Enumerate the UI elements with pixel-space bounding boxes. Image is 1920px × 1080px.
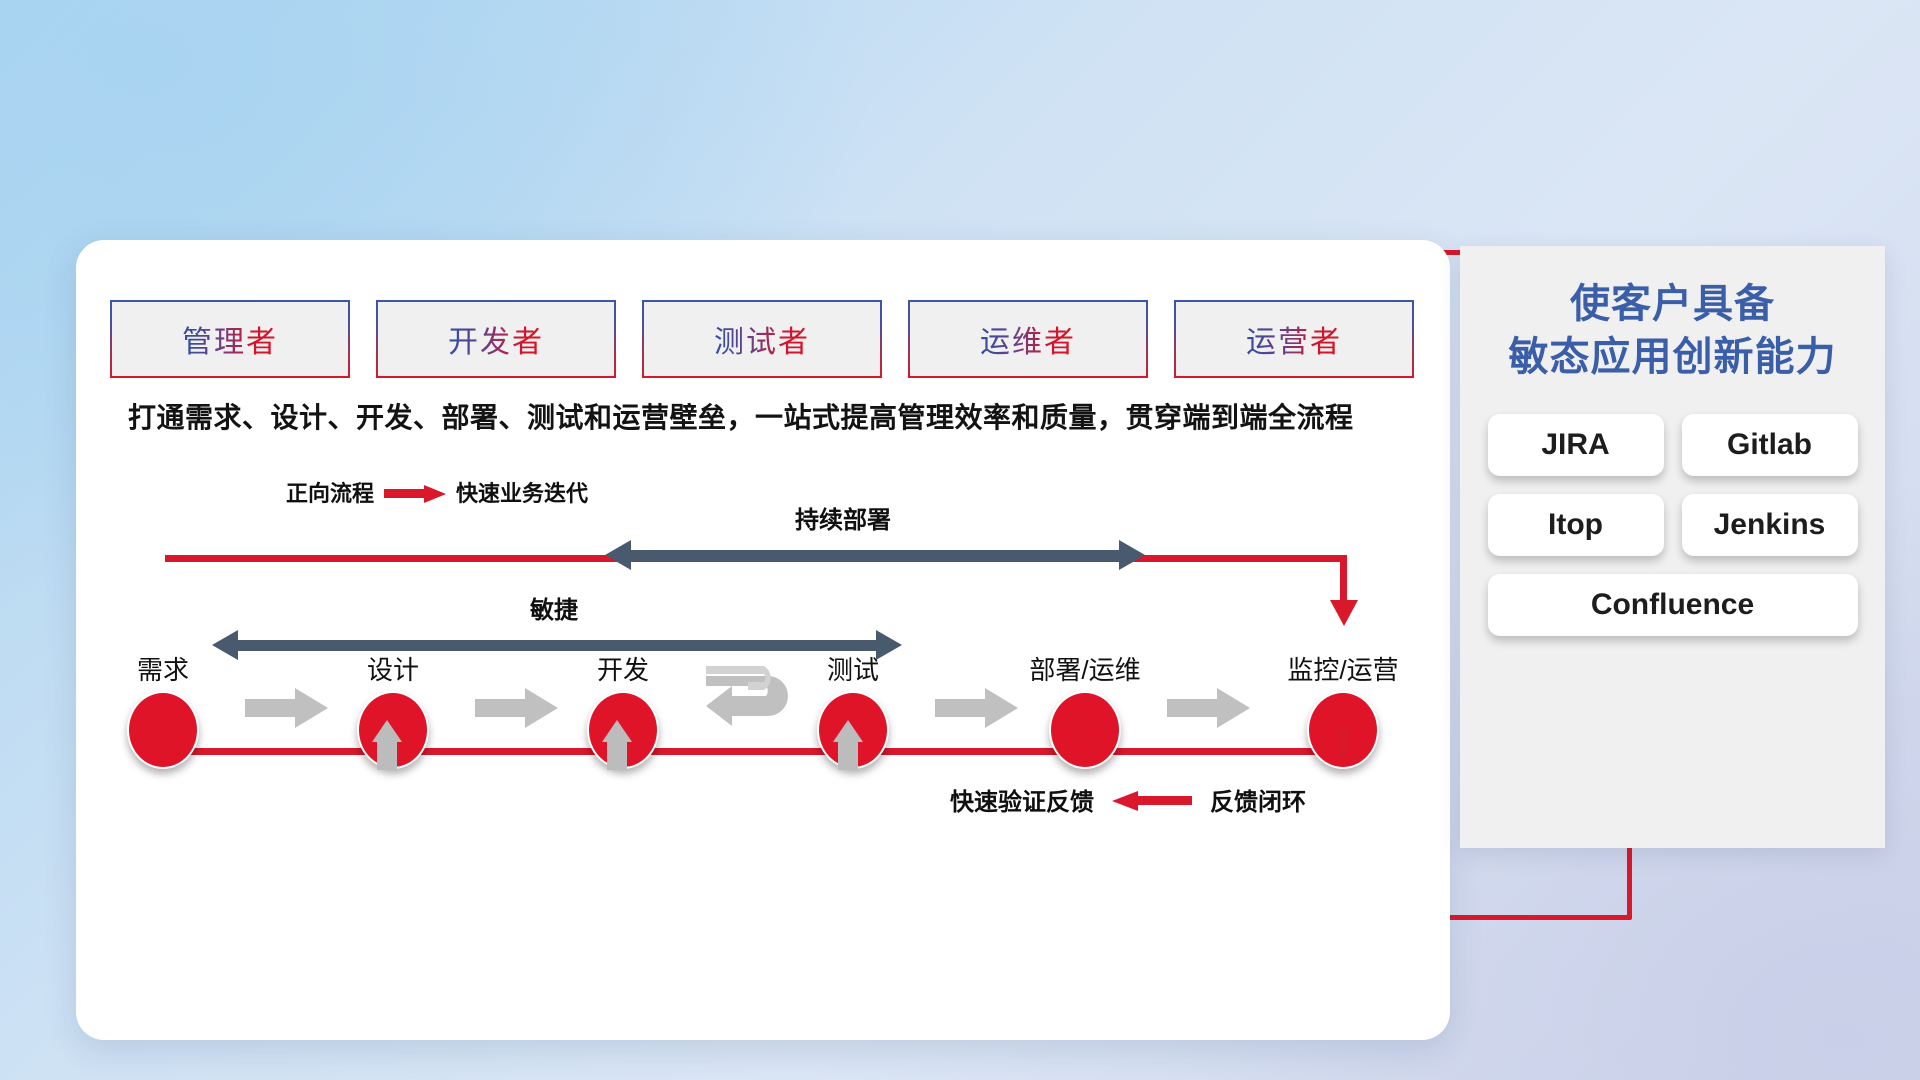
span-arrow-continuous-deploy [605,538,1145,572]
role-box-tester[interactable]: 测试者 [642,300,882,378]
role-label: 运维者 [980,317,1076,361]
red-arrow-right-icon [384,485,446,499]
role-box-row: 管理者 开发者 测试者 运维者 运营者 [110,300,1414,378]
forward-flow-left-label: 正向流程 [286,476,374,508]
role-box-manager[interactable]: 管理者 [110,300,350,378]
tool-button-confluence[interactable]: Confluence [1488,574,1858,636]
feedback-right-label: 反馈闭环 [1210,782,1306,817]
feedback-stem-test [838,740,858,770]
forward-flow-right-label: 快速业务迭代 [456,476,588,508]
tool-button-itop[interactable]: Itop [1488,494,1664,556]
capability-panel: 使客户具备 敏态应用创新能力 JIRA Gitlab Itop Jenkins … [1460,246,1885,848]
description-text: 打通需求、设计、开发、部署、测试和运营壁垒，一站式提高管理效率和质量，贯穿端到端… [128,396,1354,436]
red-arrow-left-icon [1112,792,1192,808]
span-label-agile: 敏捷 [530,590,578,625]
pipeline-stage-deploy-ops[interactable]: 部署/运维 [1000,650,1170,769]
stage-label: 开发 [538,650,708,687]
monitor-red-stem [1340,730,1347,755]
panel-title-line1: 使客户具备 [1460,278,1885,331]
stage-label: 部署/运维 [1000,650,1170,687]
role-label: 管理者 [182,317,278,361]
tool-button-gitlab[interactable]: Gitlab [1682,414,1858,476]
feedback-arrowhead-develop [602,720,632,742]
feedback-legend: 快速验证反馈 反馈闭环 [950,782,1306,817]
stage-label: 测试 [768,650,938,687]
feedback-arrowhead-design [372,720,402,742]
tool-button-jenkins[interactable]: Jenkins [1682,494,1858,556]
role-box-operations[interactable]: 运营者 [1174,300,1414,378]
panel-title-line2: 敏态应用创新能力 [1460,331,1885,384]
role-label: 开发者 [448,317,544,361]
grey-arrow-icon-4 [1165,685,1253,731]
feedback-stem-develop [607,740,627,770]
span-label-continuous-deploy: 持续部署 [795,500,891,535]
stage-label: 设计 [308,650,478,687]
slide-canvas: 管理者 开发者 测试者 运维者 运营者 打通需求、设计、开发、部署、测试和运营壁… [0,0,1920,1080]
pipeline-stage-requirement[interactable]: 需求 [78,650,248,769]
role-box-ops[interactable]: 运维者 [908,300,1148,378]
tool-button-grid: JIRA Gitlab Itop Jenkins Confluence [1460,414,1885,636]
tool-button-jira[interactable]: JIRA [1488,414,1664,476]
panel-title: 使客户具备 敏态应用创新能力 [1460,278,1885,384]
stage-label: 监控/运营 [1258,650,1428,687]
stage-label: 需求 [78,650,248,687]
role-label: 测试者 [714,317,810,361]
role-box-developer[interactable]: 开发者 [376,300,616,378]
role-label: 运营者 [1246,317,1342,361]
forward-flow-legend: 正向流程 快速业务迭代 [286,476,588,508]
stage-dot-icon [127,691,199,769]
feedback-left-label: 快速验证反馈 [950,782,1094,817]
stage-dot-icon [1049,691,1121,769]
feedback-arrowhead-test [833,720,863,742]
feedback-stem-design [377,740,397,770]
